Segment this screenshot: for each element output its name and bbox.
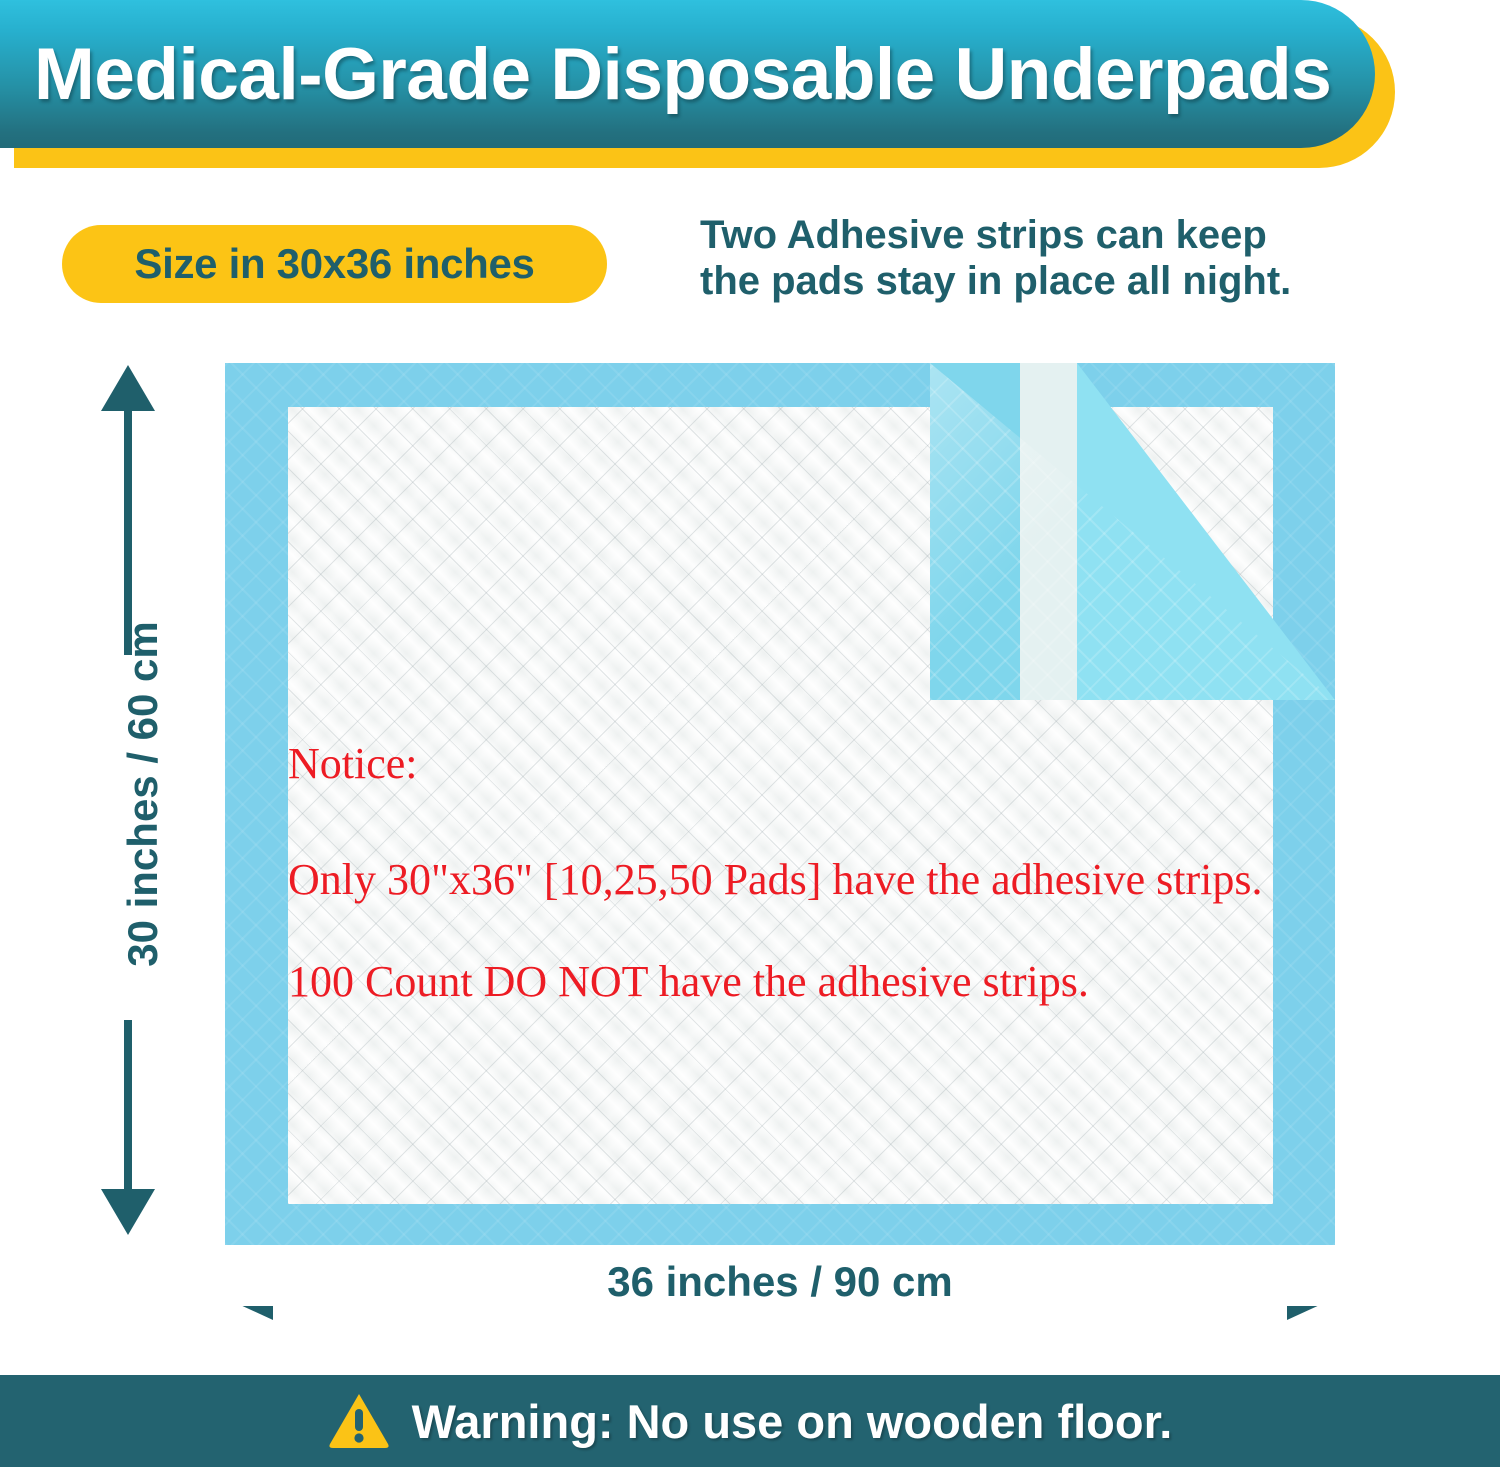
notice-block: Notice: Only 30"x36" [10,25,50 Pads] hav…	[288, 742, 1408, 1004]
horizontal-dimension-label: 36 inches / 90 cm	[225, 1258, 1335, 1306]
vertical-dimension-label: 30 inches / 60 cm	[119, 444, 167, 1144]
notice-heading: Notice:	[288, 742, 1408, 786]
size-badge-label: Size in 30x36 inches	[134, 240, 534, 288]
underpad-folded-corner	[930, 363, 1335, 700]
horizontal-dimension: 36 inches / 90 cm	[225, 1258, 1335, 1336]
header-banner-bar: Medical-Grade Disposable Underpads	[0, 0, 1375, 148]
size-badge: Size in 30x36 inches	[62, 225, 607, 303]
header-banner: Medical-Grade Disposable Underpads	[0, 0, 1395, 172]
warning-footer-text: Warning: No use on wooden floor.	[412, 1394, 1173, 1449]
horizontal-dimension-text: 36 inches / 90 cm	[589, 1258, 971, 1305]
vertical-dimension: 30 inches / 60 cm	[93, 365, 163, 1235]
adhesive-note-line-2: the pads stay in place all night.	[700, 258, 1360, 304]
warning-triangle-icon	[328, 1392, 390, 1450]
adhesive-note: Two Adhesive strips can keep the pads st…	[700, 212, 1360, 305]
notice-line-1: Only 30"x36" [10,25,50 Pads] have the ad…	[288, 858, 1408, 902]
notice-line-2: 100 Count DO NOT have the adhesive strip…	[288, 960, 1408, 1004]
adhesive-note-line-1: Two Adhesive strips can keep	[700, 212, 1360, 258]
page-title: Medical-Grade Disposable Underpads	[0, 33, 1331, 116]
warning-footer: Warning: No use on wooden floor.	[0, 1375, 1500, 1467]
